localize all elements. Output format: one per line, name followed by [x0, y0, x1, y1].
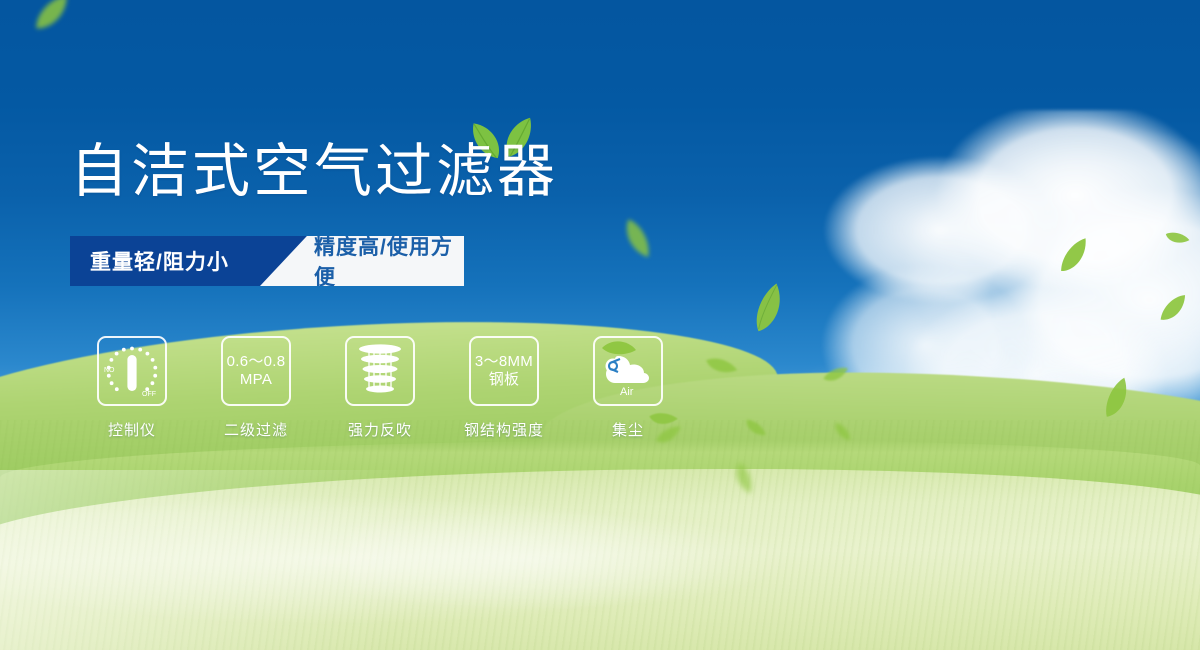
- subtitle-bar: 重量轻/阻力小 精度高/使用方便: [70, 236, 464, 286]
- feature-tile: NO OFF: [97, 336, 167, 406]
- feature-tile: Air: [593, 336, 663, 406]
- product-banner: 自洁式空气过滤器 重量轻/阻力小 精度高/使用方便: [0, 0, 1200, 650]
- subtitle-right-text: 精度高/使用方便: [314, 231, 464, 291]
- filter-coil-icon: [352, 342, 408, 400]
- feature-item-controller[interactable]: NO OFF 控制仪: [70, 336, 194, 440]
- feature-label: 控制仪: [108, 419, 156, 440]
- tile-line-1: 0.6～0.8: [227, 353, 286, 370]
- feature-tile: 0.6～0.8 MPA: [221, 336, 291, 406]
- feature-label: 强力反吹: [348, 419, 412, 440]
- air-label: Air: [620, 386, 634, 398]
- feature-list: NO OFF 控制仪 0.6～0.8 MPA 二级过滤: [70, 336, 690, 440]
- tile-line-2: 钢板: [475, 371, 533, 389]
- feature-tile: 3～8MM 钢板: [469, 336, 539, 406]
- feature-tile: [345, 336, 415, 406]
- feature-item-steel[interactable]: 3～8MM 钢板 钢结构强度: [442, 336, 566, 440]
- page-title: 自洁式空气过滤器: [70, 142, 558, 203]
- cloud-air-icon: Air: [598, 342, 658, 400]
- gauge-left-label: NO: [104, 367, 115, 374]
- feature-item-dust[interactable]: Air 集尘: [566, 336, 690, 440]
- tile-line-1: 3～8MM: [475, 353, 533, 370]
- tile-line-2: MPA: [227, 371, 286, 389]
- feature-label: 集尘: [612, 419, 644, 440]
- pressure-text-icon: 0.6～0.8 MPA: [227, 353, 286, 389]
- feature-label: 钢结构强度: [464, 419, 544, 440]
- feature-item-backblow[interactable]: 强力反吹: [318, 336, 442, 440]
- feature-label: 二级过滤: [224, 419, 288, 440]
- subtitle-left-text: 重量轻/阻力小: [90, 246, 229, 276]
- feature-item-pressure[interactable]: 0.6～0.8 MPA 二级过滤: [194, 336, 318, 440]
- steel-plate-text-icon: 3～8MM 钢板: [475, 353, 533, 389]
- gauge-right-label: OFF: [142, 391, 156, 398]
- gauge-icon: NO OFF: [101, 340, 163, 402]
